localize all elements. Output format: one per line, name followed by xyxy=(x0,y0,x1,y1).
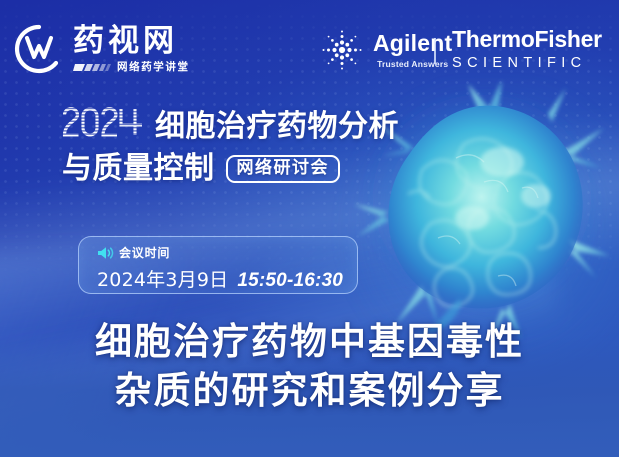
agilent-name: Agilent xyxy=(373,32,452,55)
agilent-starburst-icon xyxy=(318,26,366,74)
headline: 细胞治疗药物分析 与质量控制 网络研讨会 xyxy=(62,108,462,184)
ysw-circle-w-logo-icon xyxy=(14,24,64,74)
webinar-badge: 网络研讨会 xyxy=(226,155,341,183)
sponsor-agilent: Agilent Trusted Answers xyxy=(318,26,452,74)
meeting-time-value-row: 2024年3月9日 15:50-16:30 xyxy=(97,265,357,292)
meeting-time-label-row: 会议时间 xyxy=(97,244,357,261)
host-tagline-row: 网络药学讲堂 xyxy=(73,62,190,73)
meeting-time-label: 会议时间 xyxy=(119,244,170,261)
session-title: 细胞治疗药物中基因毒性 杂质的研究和案例分享 xyxy=(0,318,619,416)
host-logo-text: 药视网 网络药学讲堂 xyxy=(73,26,190,73)
host-name: 药视网 xyxy=(73,26,190,57)
thermofisher-name: ThermoFisher xyxy=(452,28,602,51)
thermofisher-subtitle: SCIENTIFIC xyxy=(452,56,602,71)
agilent-tagline: Trusted Answers xyxy=(377,60,448,69)
meeting-time-panel: 会议时间 2024年3月9日 15:50-16:30 xyxy=(78,236,358,294)
headline-row-1: 细胞治疗药物分析 xyxy=(62,108,462,142)
speed-streak-icon xyxy=(73,63,111,72)
webinar-poster: 药视网 网络药学讲堂 xyxy=(0,0,619,457)
session-title-line-2: 杂质的研究和案例分享 xyxy=(0,367,619,416)
headline-line-2: 与质量控制 xyxy=(62,154,215,184)
headline-line-1: 细胞治疗药物分析 xyxy=(155,112,399,142)
sponsor-thermofisher: ThermoFisher SCIENTIFIC xyxy=(452,28,602,71)
meeting-date: 2024年3月9日 xyxy=(97,265,228,292)
headline-row-2: 与质量控制 网络研讨会 xyxy=(62,154,462,184)
headline-year xyxy=(62,106,148,140)
host-tagline: 网络药学讲堂 xyxy=(117,62,190,73)
meeting-time: 15:50-16:30 xyxy=(237,270,343,292)
megaphone-icon xyxy=(97,246,114,260)
sponsor-divider xyxy=(434,38,436,64)
session-title-line-1: 细胞治疗药物中基因毒性 xyxy=(0,318,619,367)
host-logo: 药视网 网络药学讲堂 xyxy=(14,24,190,74)
agilent-text: Agilent Trusted Answers xyxy=(373,32,452,69)
